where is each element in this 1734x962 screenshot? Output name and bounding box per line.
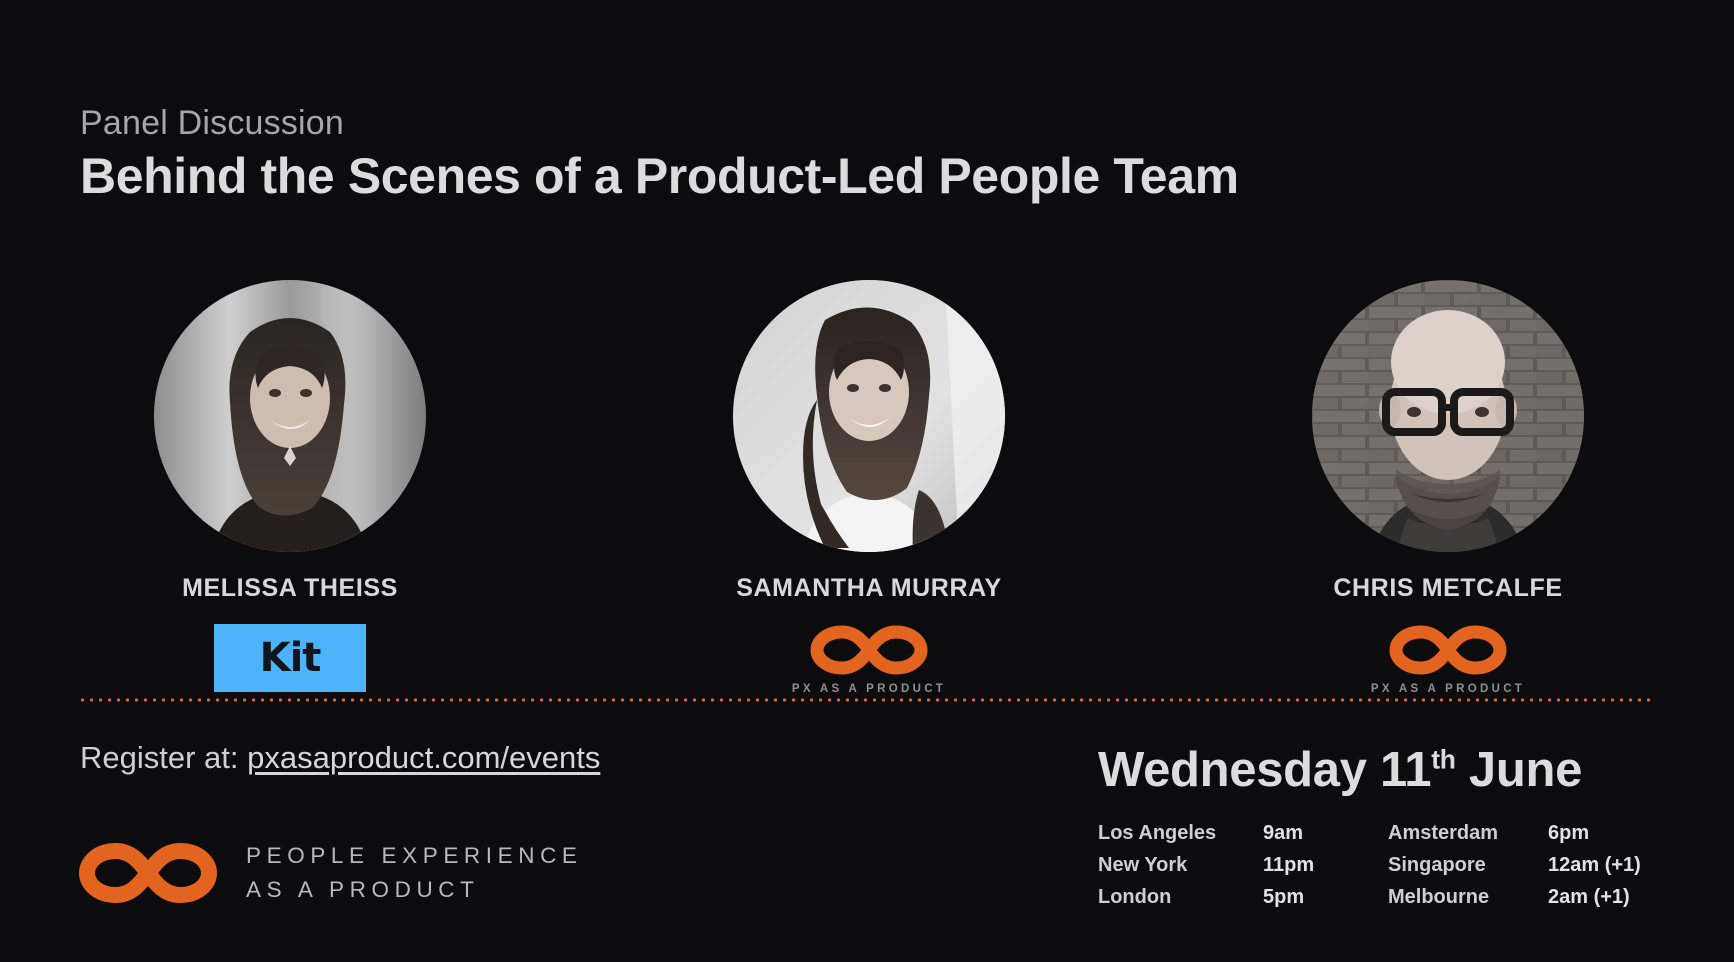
speaker-name: CHRIS METCALFE: [1333, 574, 1562, 603]
speaker-name: SAMANTHA MURRAY: [736, 574, 1001, 603]
speaker-company-logo: Kit: [214, 621, 366, 695]
pxp-logo: PX AS A PRODUCT: [1371, 621, 1525, 695]
register-prefix: Register at:: [80, 740, 247, 775]
speaker-company-logo: PX AS A PRODUCT: [792, 621, 946, 695]
timezone-time: 9am: [1263, 822, 1388, 845]
pxp-logo-label: PX AS A PRODUCT: [792, 683, 946, 695]
timezone-time: 6pm: [1548, 822, 1670, 845]
timezone-time: 5pm: [1263, 886, 1388, 909]
timezone-time: 2am (+1): [1548, 886, 1670, 909]
speaker-card: CHRIS METCALFE PX AS A PRODUCT: [1238, 280, 1658, 695]
infinity-icon: [1388, 621, 1508, 679]
kit-logo-label: Kit: [260, 635, 321, 681]
infinity-icon: [76, 838, 220, 908]
timezone-time: 12am (+1): [1548, 854, 1670, 877]
timezone-city: Singapore: [1388, 854, 1548, 877]
brand-line-1: PEOPLE EXPERIENCE: [246, 839, 583, 873]
dotted-divider: [78, 698, 1656, 702]
brand-lockup: PEOPLE EXPERIENCE AS A PRODUCT: [76, 838, 583, 908]
pxp-logo-label: PX AS A PRODUCT: [1371, 683, 1525, 695]
kit-logo: Kit: [214, 624, 366, 692]
speaker-card: SAMANTHA MURRAY PX AS A PRODUCT: [659, 280, 1079, 695]
timezone-time: 11pm: [1263, 854, 1388, 877]
register-line: Register at: pxasaproduct.com/events: [80, 740, 600, 776]
timezone-city: New York: [1098, 854, 1263, 877]
event-date: Wednesday 11th June: [1098, 742, 1670, 798]
header: Panel Discussion Behind the Scenes of a …: [80, 104, 1239, 206]
headshot-samantha-murray: [733, 280, 1005, 552]
headshot-melissa-theiss: [154, 280, 426, 552]
headshot-chris-metcalfe: [1312, 280, 1584, 552]
timezone-city: Los Angeles: [1098, 822, 1263, 845]
timezone-table: Los Angeles 9am Amsterdam 6pm New York 1…: [1098, 822, 1670, 909]
speaker-list: MELISSA THEISS Kit: [80, 280, 1658, 695]
brand-line-2: AS A PRODUCT: [246, 873, 583, 907]
speaker-card: MELISSA THEISS Kit: [80, 280, 500, 695]
event-date-block: Wednesday 11th June Los Angeles 9am Amst…: [1098, 742, 1670, 909]
timezone-city: London: [1098, 886, 1263, 909]
timezone-city: Amsterdam: [1388, 822, 1548, 845]
speaker-company-logo: PX AS A PRODUCT: [1371, 621, 1525, 695]
event-slide: Panel Discussion Behind the Scenes of a …: [0, 0, 1734, 962]
kicker-label: Panel Discussion: [80, 104, 1239, 143]
event-date-prefix: Wednesday 11: [1098, 743, 1431, 797]
brand-text: PEOPLE EXPERIENCE AS A PRODUCT: [246, 839, 583, 907]
infinity-icon: [809, 621, 929, 679]
page-title: Behind the Scenes of a Product-Led Peopl…: [80, 147, 1239, 206]
pxp-logo: PX AS A PRODUCT: [792, 621, 946, 695]
register-url-link[interactable]: pxasaproduct.com/events: [247, 740, 600, 775]
event-date-ordinal: th: [1431, 745, 1455, 775]
speaker-name: MELISSA THEISS: [182, 574, 398, 603]
event-date-suffix: June: [1456, 743, 1582, 797]
timezone-city: Melbourne: [1388, 886, 1548, 909]
